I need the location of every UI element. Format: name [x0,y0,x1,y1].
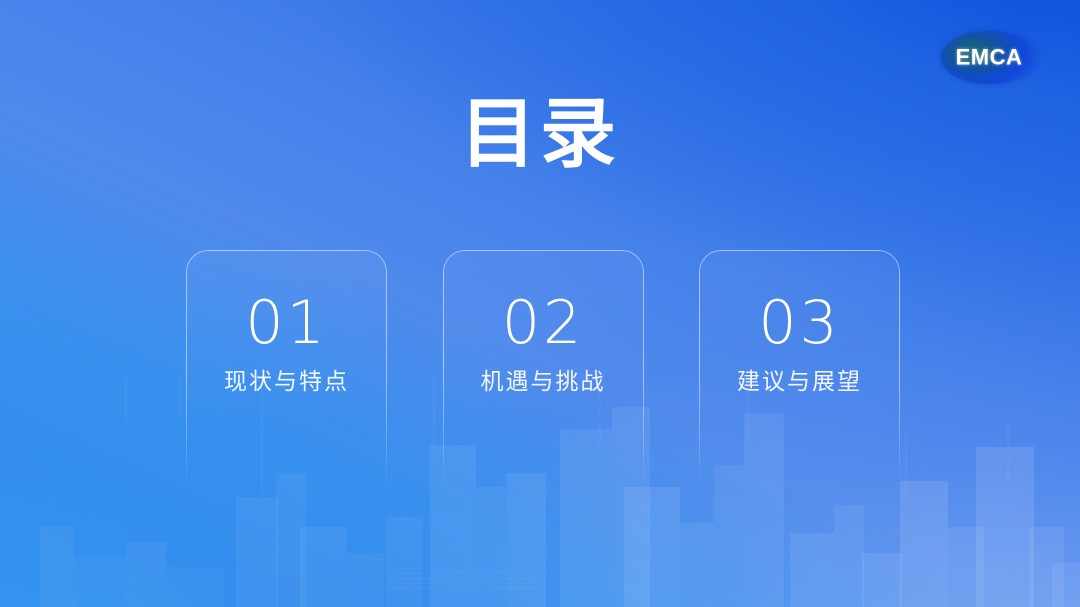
emca-logo: EMCA [941,31,1037,84]
contents-card-02[interactable]: 02 机遇与挑战 [443,250,644,500]
contents-card-number: 02 [443,292,644,354]
skyline-building [40,527,74,607]
skyline-building [834,505,864,607]
skyline-building [476,487,506,607]
skyline-building [300,527,346,607]
contents-card-number: 01 [186,292,387,354]
contents-card-label: 建议与展望 [699,367,900,397]
contents-card-03[interactable]: 03 建议与展望 [699,250,900,500]
contents-card-list: 01 现状与特点 02 机遇与挑战 03 建议与展望 [186,250,900,500]
skyline-building [862,553,902,607]
skyline-building [386,517,422,607]
skyline-building [74,555,126,607]
skyline-building [346,553,384,607]
contents-card-label: 机遇与挑战 [443,367,644,397]
skyline-building [680,523,714,607]
skyline-building [236,497,278,607]
skyline-building [1052,563,1080,607]
skyline-building [1030,527,1064,607]
contents-card-label: 现状与特点 [186,367,387,397]
skyline-building [126,542,166,607]
contents-card-01[interactable]: 01 现状与特点 [186,250,387,500]
skyline-building [624,487,680,607]
skyline-building [976,447,1034,607]
skyline-building [790,533,834,607]
presentation-slide: EMCA 目录 01 现状与特点 02 机遇与挑战 03 建议与展望 [0,0,1080,607]
skyline-building [900,481,948,607]
page-title: 目录 [0,92,1080,176]
contents-card-number: 03 [699,292,900,354]
emca-logo-text: EMCA [956,44,1023,70]
skyline-building [166,567,224,607]
skyline-building [948,527,984,607]
